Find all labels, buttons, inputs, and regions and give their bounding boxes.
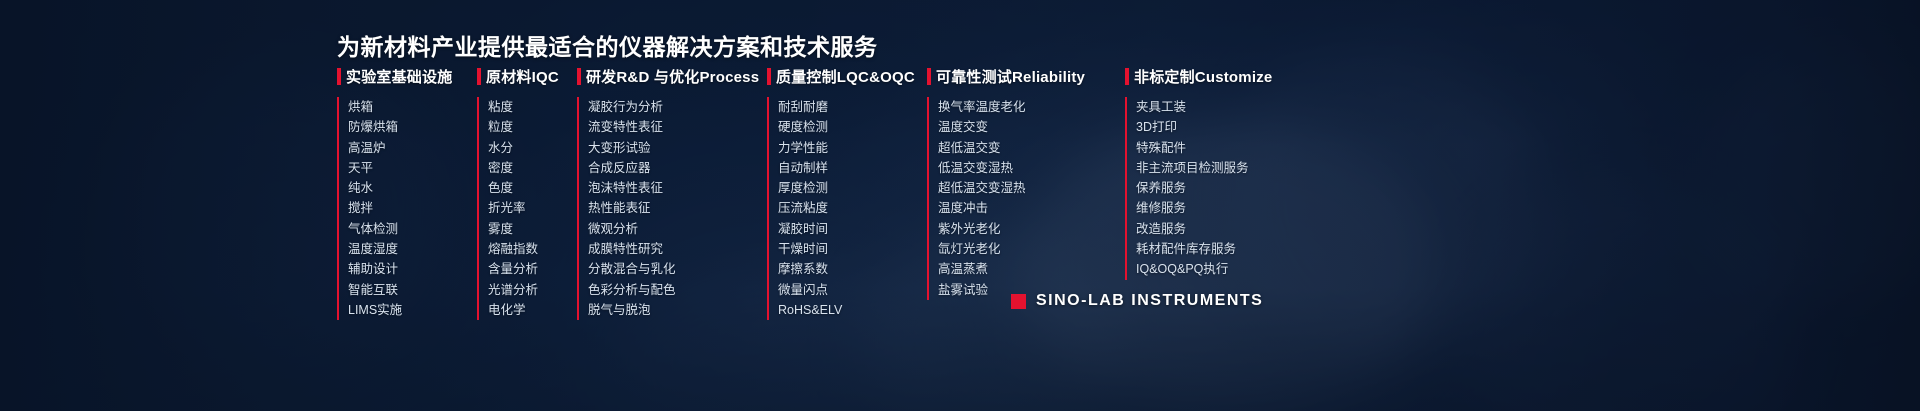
- list-item[interactable]: 含量分析: [488, 259, 577, 279]
- list-item[interactable]: 熔融指数: [488, 239, 577, 259]
- category-header: 原材料IQC: [477, 66, 577, 86]
- category-column-quality-control: 质量控制LQC&OQC 耐刮耐磨 硬度检测 力学性能 自动制样 厚度检测 压流粘…: [767, 66, 927, 320]
- list-item[interactable]: 凝胶时间: [778, 219, 927, 239]
- red-bar-icon: [477, 68, 481, 85]
- category-header-label: 实验室基础设施: [346, 66, 452, 87]
- red-square-mark-icon: [1011, 294, 1026, 309]
- list-item[interactable]: 干燥时间: [778, 239, 927, 259]
- list-item[interactable]: 硬度检测: [778, 117, 927, 137]
- category-item-list: 换气率温度老化 温度交变 超低温交变 低温交变湿热 超低温交变湿热 温度冲击 紫…: [927, 97, 1125, 300]
- category-header-label: 质量控制LQC&OQC: [776, 66, 915, 87]
- list-item[interactable]: 电化学: [488, 300, 577, 320]
- red-bar-icon: [577, 68, 581, 85]
- list-item[interactable]: 维修服务: [1136, 198, 1345, 218]
- list-item[interactable]: 微观分析: [588, 219, 767, 239]
- list-item[interactable]: 天平: [348, 158, 477, 178]
- list-item[interactable]: 成膜特性研究: [588, 239, 767, 259]
- list-item[interactable]: 改造服务: [1136, 219, 1345, 239]
- list-item[interactable]: 粘度: [488, 97, 577, 117]
- list-item[interactable]: 色度: [488, 178, 577, 198]
- list-item[interactable]: 合成反应器: [588, 158, 767, 178]
- list-item[interactable]: 凝胶行为分析: [588, 97, 767, 117]
- list-item[interactable]: 超低温交变: [938, 138, 1125, 158]
- category-item-list: 烘箱 防爆烘箱 高温炉 天平 纯水 搅拌 气体检测 温度湿度 辅助设计 智能互联…: [337, 97, 477, 320]
- brand-name: SINO-LAB INSTRUMENTS: [1036, 292, 1263, 310]
- list-item[interactable]: RoHS&ELV: [778, 300, 927, 320]
- banner-headline: 为新材料产业提供最适合的仪器解决方案和技术服务: [337, 28, 878, 62]
- list-item[interactable]: 脱气与脱泡: [588, 300, 767, 320]
- category-column-lab-infrastructure: 实验室基础设施 烘箱 防爆烘箱 高温炉 天平 纯水 搅拌 气体检测 温度湿度 辅…: [337, 66, 477, 320]
- list-item[interactable]: 紫外光老化: [938, 219, 1125, 239]
- list-item[interactable]: 超低温交变湿热: [938, 178, 1125, 198]
- list-item[interactable]: 辅助设计: [348, 259, 477, 279]
- category-header: 非标定制Customize: [1125, 66, 1345, 86]
- category-header-label: 研发R&D 与优化Process: [586, 66, 759, 87]
- category-header-label: 原材料IQC: [486, 66, 559, 87]
- list-item[interactable]: 雾度: [488, 219, 577, 239]
- category-header: 可靠性测试Reliability: [927, 66, 1125, 86]
- list-item[interactable]: 厚度检测: [778, 178, 927, 198]
- category-item-list: 粘度 粒度 水分 密度 色度 折光率 雾度 熔融指数 含量分析 光谱分析 电化学: [477, 97, 577, 320]
- category-header: 质量控制LQC&OQC: [767, 66, 927, 86]
- red-bar-icon: [767, 68, 771, 85]
- red-bar-icon: [1125, 68, 1129, 85]
- category-item-list: 耐刮耐磨 硬度检测 力学性能 自动制样 厚度检测 压流粘度 凝胶时间 干燥时间 …: [767, 97, 927, 320]
- list-item[interactable]: 压流粘度: [778, 198, 927, 218]
- category-column-raw-material-iqc: 原材料IQC 粘度 粒度 水分 密度 色度 折光率 雾度 熔融指数 含量分析 光…: [477, 66, 577, 320]
- list-item[interactable]: 耐刮耐磨: [778, 97, 927, 117]
- category-header: 实验室基础设施: [337, 66, 477, 86]
- list-item[interactable]: 光谱分析: [488, 280, 577, 300]
- category-item-list: 凝胶行为分析 流变特性表征 大变形试验 合成反应器 泡沫特性表征 热性能表征 微…: [577, 97, 767, 320]
- list-item[interactable]: 温度冲击: [938, 198, 1125, 218]
- list-item[interactable]: 粒度: [488, 117, 577, 137]
- list-item[interactable]: 密度: [488, 158, 577, 178]
- category-item-list: 夹具工装 3D打印 特殊配件 非主流项目检测服务 保养服务 维修服务 改造服务 …: [1125, 97, 1345, 280]
- service-category-columns: 实验室基础设施 烘箱 防爆烘箱 高温炉 天平 纯水 搅拌 气体检测 温度湿度 辅…: [337, 66, 1577, 320]
- list-item[interactable]: 大变形试验: [588, 138, 767, 158]
- list-item[interactable]: 保养服务: [1136, 178, 1345, 198]
- list-item[interactable]: 折光率: [488, 198, 577, 218]
- list-item[interactable]: 防爆烘箱: [348, 117, 477, 137]
- list-item[interactable]: 高温蒸煮: [938, 259, 1125, 279]
- list-item[interactable]: 自动制样: [778, 158, 927, 178]
- list-item[interactable]: IQ&OQ&PQ执行: [1136, 259, 1345, 279]
- list-item[interactable]: 智能互联: [348, 280, 477, 300]
- banner-content: 为新材料产业提供最适合的仪器解决方案和技术服务 实验室基础设施 烘箱 防爆烘箱 …: [0, 0, 1920, 411]
- list-item[interactable]: 耗材配件库存服务: [1136, 239, 1345, 259]
- list-item[interactable]: 摩擦系数: [778, 259, 927, 279]
- list-item[interactable]: 换气率温度老化: [938, 97, 1125, 117]
- list-item[interactable]: 热性能表征: [588, 198, 767, 218]
- category-header-label: 可靠性测试Reliability: [936, 66, 1085, 87]
- list-item[interactable]: 3D打印: [1136, 117, 1345, 137]
- list-item[interactable]: 流变特性表征: [588, 117, 767, 137]
- list-item[interactable]: 夹具工装: [1136, 97, 1345, 117]
- list-item[interactable]: 烘箱: [348, 97, 477, 117]
- red-bar-icon: [337, 68, 341, 85]
- list-item[interactable]: 色彩分析与配色: [588, 280, 767, 300]
- category-header-label: 非标定制Customize: [1134, 66, 1272, 87]
- list-item[interactable]: 水分: [488, 138, 577, 158]
- brand-logo[interactable]: SINO-LAB INSTRUMENTS: [1011, 292, 1263, 310]
- list-item[interactable]: 非主流项目检测服务: [1136, 158, 1345, 178]
- list-item[interactable]: 温度湿度: [348, 239, 477, 259]
- list-item[interactable]: 温度交变: [938, 117, 1125, 137]
- category-column-reliability: 可靠性测试Reliability 换气率温度老化 温度交变 超低温交变 低温交变…: [927, 66, 1125, 320]
- category-column-rd-process: 研发R&D 与优化Process 凝胶行为分析 流变特性表征 大变形试验 合成反…: [577, 66, 767, 320]
- list-item[interactable]: 分散混合与乳化: [588, 259, 767, 279]
- list-item[interactable]: 微量闪点: [778, 280, 927, 300]
- list-item[interactable]: 气体检测: [348, 219, 477, 239]
- red-bar-icon: [927, 68, 931, 85]
- category-column-customize: 非标定制Customize 夹具工装 3D打印 特殊配件 非主流项目检测服务 保…: [1125, 66, 1345, 320]
- category-header: 研发R&D 与优化Process: [577, 66, 767, 86]
- list-item[interactable]: 泡沫特性表征: [588, 178, 767, 198]
- list-item[interactable]: 纯水: [348, 178, 477, 198]
- promotional-banner: 为新材料产业提供最适合的仪器解决方案和技术服务 实验室基础设施 烘箱 防爆烘箱 …: [0, 0, 1920, 411]
- list-item[interactable]: 高温炉: [348, 138, 477, 158]
- list-item[interactable]: 力学性能: [778, 138, 927, 158]
- list-item[interactable]: LIMS实施: [348, 300, 477, 320]
- list-item[interactable]: 搅拌: [348, 198, 477, 218]
- list-item[interactable]: 低温交变湿热: [938, 158, 1125, 178]
- list-item[interactable]: 氙灯光老化: [938, 239, 1125, 259]
- list-item[interactable]: 特殊配件: [1136, 138, 1345, 158]
